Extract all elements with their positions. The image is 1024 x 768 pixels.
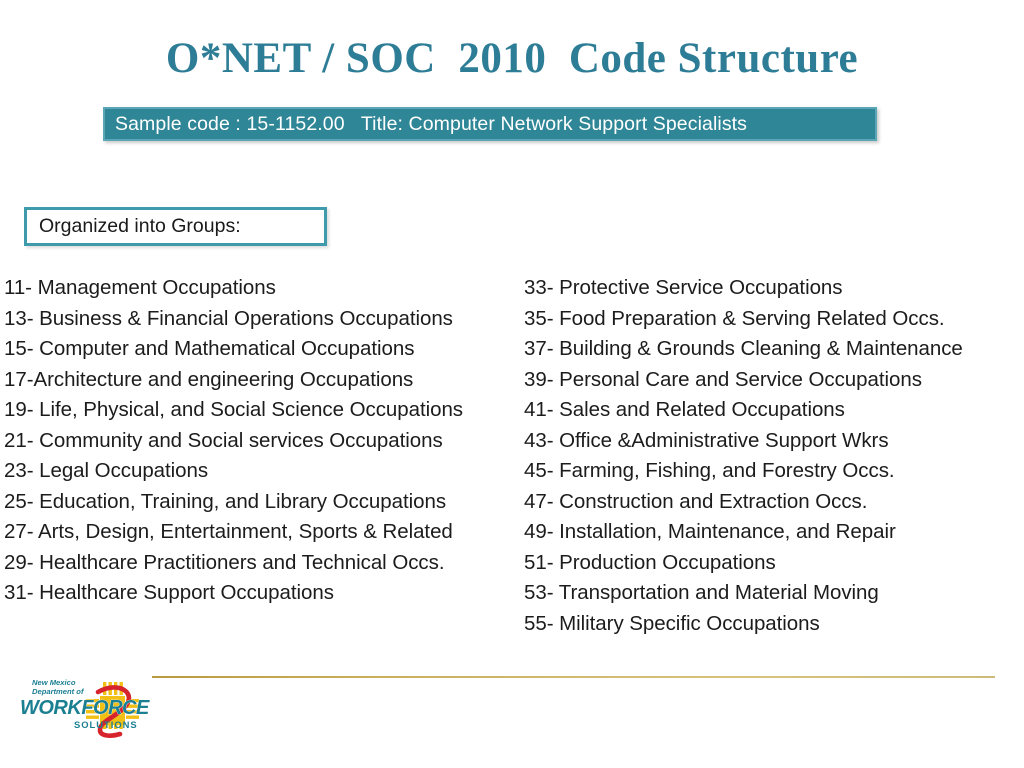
logo-wordmark: WORKFORCE — [20, 697, 150, 719]
group-code-item: 17-Architecture and engineering Occupati… — [4, 365, 519, 396]
nm-workforce-solutions-logo: New Mexico Department of WORKFORCE SOLUT… — [12, 672, 154, 746]
group-code-item: 27- Arts, Design, Entertainment, Sports … — [4, 517, 519, 548]
group-code-list-left: 11- Management Occupations13- Business &… — [4, 273, 519, 609]
slide-canvas: O*NET / SOC 2010 Code Structure Sample c… — [0, 0, 1024, 768]
group-code-item: 53- Transportation and Material Moving — [524, 578, 1024, 609]
logo-line1: New Mexico — [32, 678, 76, 687]
group-code-item: 19- Life, Physical, and Social Science O… — [4, 395, 519, 426]
group-code-item: 13- Business & Financial Operations Occu… — [4, 304, 519, 335]
group-code-item: 21- Community and Social services Occupa… — [4, 426, 519, 457]
group-code-item: 33- Protective Service Occupations — [524, 273, 1024, 304]
group-code-item: 25- Education, Training, and Library Occ… — [4, 487, 519, 518]
footer-divider — [152, 676, 995, 678]
group-code-list-right: 33- Protective Service Occupations35- Fo… — [524, 273, 1024, 639]
group-code-item: 49- Installation, Maintenance, and Repai… — [524, 517, 1024, 548]
group-code-item: 37- Building & Grounds Cleaning & Mainte… — [524, 334, 1024, 365]
group-code-item: 51- Production Occupations — [524, 548, 1024, 579]
group-code-item: 29- Healthcare Practitioners and Technic… — [4, 548, 519, 579]
page-title: O*NET / SOC 2010 Code Structure — [0, 36, 1024, 81]
logo-artwork: New Mexico Department of WORKFORCE SOLUT… — [12, 672, 154, 746]
group-code-item: 35- Food Preparation & Serving Related O… — [524, 304, 1024, 335]
logo-line2: Department of — [32, 687, 85, 696]
group-code-item: 11- Management Occupations — [4, 273, 519, 304]
group-code-item: 45- Farming, Fishing, and Forestry Occs. — [524, 456, 1024, 487]
organized-into-groups-box: Organized into Groups: — [24, 207, 327, 246]
group-code-item: 55- Military Specific Occupations — [524, 609, 1024, 640]
sample-code-text: Sample code : 15-1152.00 Title: Computer… — [105, 113, 747, 136]
logo-subword: SOLUTIONS — [74, 719, 138, 730]
group-code-item: 23- Legal Occupations — [4, 456, 519, 487]
group-code-item: 31- Healthcare Support Occupations — [4, 578, 519, 609]
organized-into-groups-label: Organized into Groups: — [27, 215, 241, 238]
group-code-item: 41- Sales and Related Occupations — [524, 395, 1024, 426]
group-code-item: 39- Personal Care and Service Occupation… — [524, 365, 1024, 396]
group-code-item: 43- Office &Administrative Support Wkrs — [524, 426, 1024, 457]
group-code-item: 15- Computer and Mathematical Occupation… — [4, 334, 519, 365]
group-code-item: 47- Construction and Extraction Occs. — [524, 487, 1024, 518]
sample-code-banner: Sample code : 15-1152.00 Title: Computer… — [103, 107, 877, 141]
